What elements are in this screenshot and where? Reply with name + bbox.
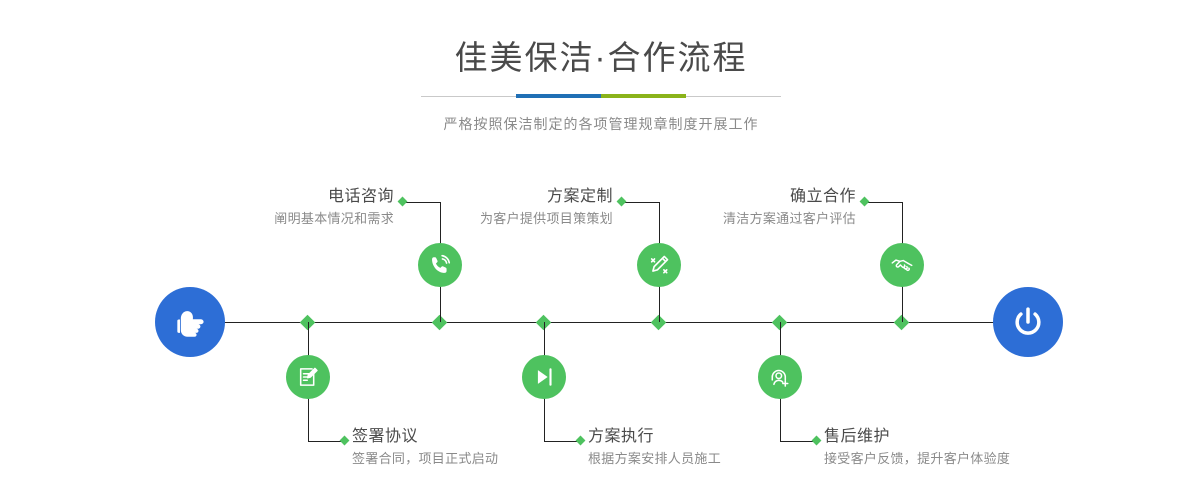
step-label-top-3: 确立合作 清洁方案通过客户评估	[596, 186, 856, 229]
step-title: 确立合作	[596, 186, 856, 208]
node-connector-horizontal	[308, 441, 344, 442]
step-icon-customer-service[interactable]	[758, 355, 802, 399]
process-timeline: 电话咨询 阐明基本情况和需求 方案定制 为客户提供项目策策划	[0, 0, 1202, 502]
pencil-design-icon	[646, 252, 672, 278]
label-marker	[340, 436, 350, 446]
step-icon-handshake[interactable]	[880, 243, 924, 287]
step-label-bottom-3: 售后维护 接受客户反馈，提升客户体验度	[824, 426, 1144, 469]
pointing-hand-icon	[170, 302, 210, 342]
step-title: 售后维护	[824, 426, 1144, 448]
document-sign-icon	[295, 364, 321, 390]
step-desc: 接受客户反馈，提升客户体验度	[824, 449, 1144, 469]
step-label-top-2: 方案定制 为客户提供项目策策划	[353, 186, 613, 229]
customer-service-icon	[767, 364, 793, 390]
step-desc: 为客户提供项目策策划	[353, 209, 613, 229]
play-execute-icon	[531, 364, 557, 390]
timeline-end-node[interactable]	[993, 287, 1063, 357]
timeline-start-node[interactable]	[155, 287, 225, 357]
phone-call-icon	[427, 252, 453, 278]
step-desc: 清洁方案通过客户评估	[596, 209, 856, 229]
step-icon-pencil-design[interactable]	[637, 243, 681, 287]
node-connector-horizontal	[780, 441, 816, 442]
step-icon-document-sign[interactable]	[286, 355, 330, 399]
handshake-icon	[889, 252, 915, 278]
node-connector-horizontal	[867, 202, 903, 203]
label-marker	[860, 197, 870, 207]
step-icon-phone-call[interactable]	[418, 243, 462, 287]
step-title: 方案定制	[353, 186, 613, 208]
node-connector-horizontal	[544, 441, 580, 442]
power-icon	[1008, 302, 1048, 342]
step-icon-play-execute[interactable]	[522, 355, 566, 399]
